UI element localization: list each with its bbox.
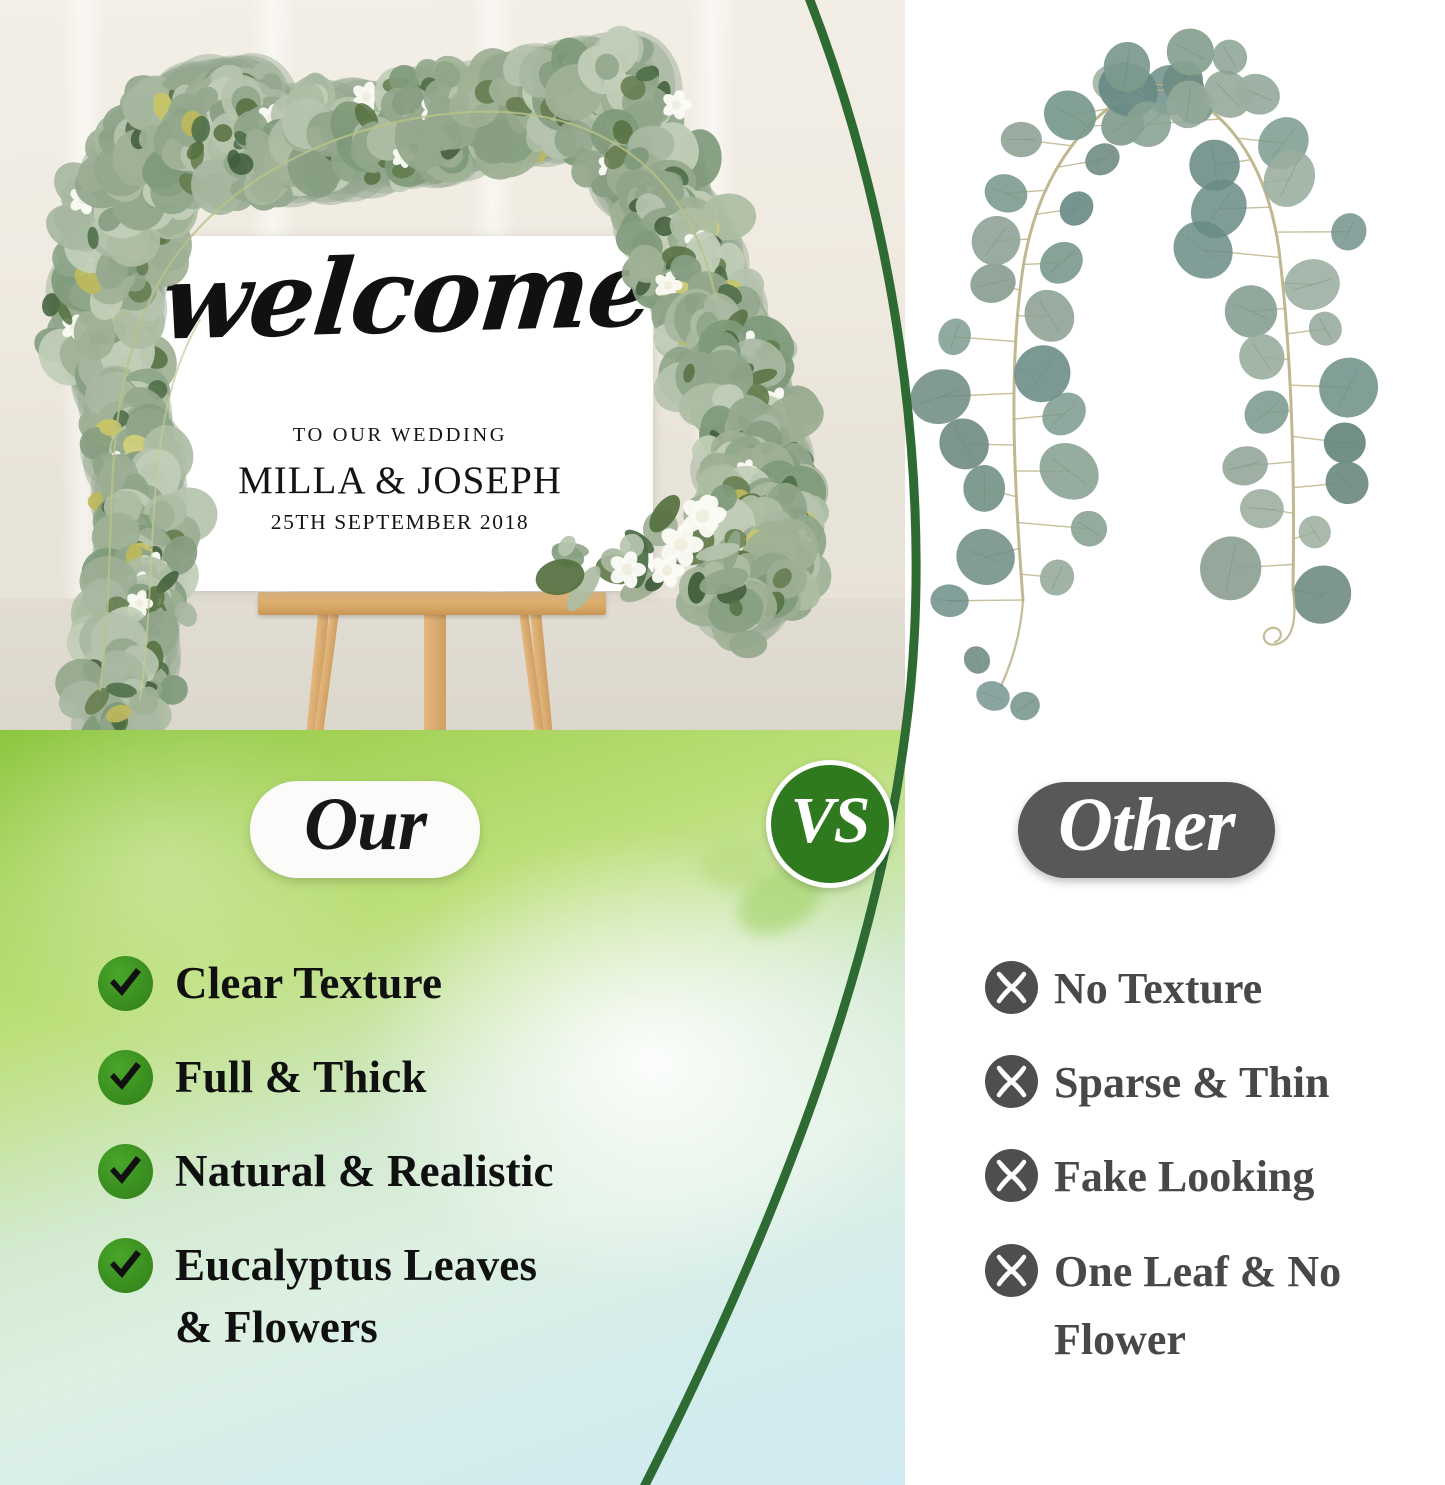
x-icon [985,961,1038,1014]
x-icon [985,1149,1038,1202]
other-feature-row: Fake Looking [985,1143,1445,1211]
lifestyle-photo: welcome TO OUR WEDDING MILLA & JOSEPH 25… [0,0,905,730]
check-icon [98,1238,153,1293]
our-feature-label: Natural & Realistic [175,1140,554,1202]
our-feature-label: Full & Thick [175,1046,427,1108]
other-badge: Other [1018,782,1275,878]
other-feature-label: No Texture [1054,955,1262,1023]
our-feature-row: Full & Thick [98,1046,838,1108]
other-feature-label: One Leaf & No Flower [1054,1238,1341,1374]
our-feature-label: Eucalyptus Leaves & Flowers [175,1234,537,1358]
sign-date: 25TH SEPTEMBER 2018 [150,510,650,535]
x-icon [985,1055,1038,1108]
other-feature-row: Sparse & Thin [985,1049,1445,1117]
sign-couple-names: MILLA & JOSEPH [150,458,650,503]
other-feature-row: No Texture [985,955,1445,1023]
competitor-product-photo [905,0,1445,730]
our-feature-row: Natural & Realistic [98,1140,838,1202]
check-icon [98,956,153,1011]
vs-badge: VS [766,760,894,888]
other-feature-label: Sparse & Thin [1054,1049,1330,1117]
other-feature-list: No TextureSparse & ThinFake LookingOne L… [985,955,1445,1400]
product-comparison-infographic: welcome TO OUR WEDDING MILLA & JOSEPH 25… [0,0,1445,1485]
sparse-eucalyptus-vine [905,0,1445,730]
x-icon [985,1244,1038,1297]
welcome-script-text: welcome [157,237,647,355]
easel-leg [424,612,446,730]
our-feature-row: Clear Texture [98,952,838,1014]
easel-ledge [258,592,606,615]
our-badge: Our [250,781,480,878]
sign-subtitle: TO OUR WEDDING [150,424,650,447]
our-feature-row: Eucalyptus Leaves & Flowers [98,1234,838,1358]
other-feature-label: Fake Looking [1054,1143,1314,1211]
check-icon [98,1050,153,1105]
our-feature-list: Clear TextureFull & ThickNatural & Reali… [98,952,838,1390]
check-icon [98,1144,153,1199]
our-feature-label: Clear Texture [175,952,442,1014]
table-surface [0,598,905,730]
other-feature-row: One Leaf & No Flower [985,1238,1445,1374]
